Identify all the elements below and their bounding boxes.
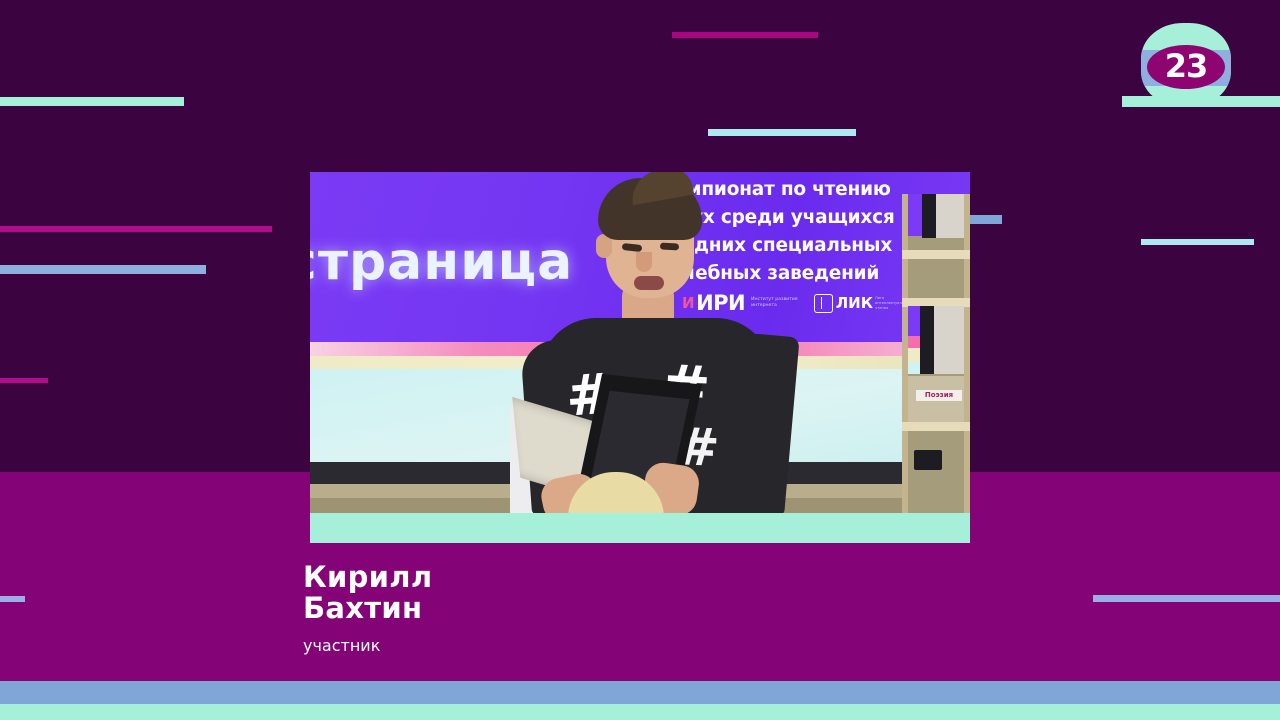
person-eye-right (660, 243, 679, 251)
shelf-book-light-1 (936, 194, 964, 238)
shelf-book-dark-2 (920, 306, 934, 374)
lower-third: Кирилл Бахтин участник (303, 562, 432, 656)
shelf-purple-panel-2 (908, 306, 920, 336)
channel-23-logo: 23 (1141, 23, 1231, 107)
shelf-cream-panel (908, 348, 920, 362)
decor-line-blue-small (968, 215, 1002, 224)
lik-subtitle: Лига интеллектуального чтения (875, 296, 897, 311)
shelf-book-dark-3 (914, 450, 942, 470)
shelf-cyan-panel (908, 362, 920, 374)
shelf-book-dark-1 (922, 194, 936, 238)
shelf-board-3 (902, 422, 970, 431)
decor-line-periwinkle-left-bottom (0, 596, 25, 602)
decor-line-mint-top (708, 129, 856, 136)
shelf-board-1 (902, 250, 970, 259)
photo-frame: страница Чемпионат по чтению вслух среди… (310, 172, 970, 543)
decor-line-mint-left-top (0, 97, 184, 106)
person-nose (636, 252, 652, 272)
shelf-section-label: Поэзия (916, 390, 962, 401)
shelf-purple-panel-1 (908, 194, 922, 236)
person-mouth (634, 276, 664, 290)
lik-wordmark: ЛИК (836, 294, 873, 312)
shelf-book-light-2 (934, 306, 964, 374)
logo-number: 23 (1165, 50, 1208, 82)
decor-line-magenta-left-low (0, 378, 48, 383)
decor-line-blue-right (1141, 239, 1254, 245)
broadcast-frame: 23 страница Чемпионат по чтению вслух ср… (0, 0, 1280, 720)
speaker-name-line-1: Кирилл (303, 562, 432, 593)
reader-person: # # # (510, 172, 810, 513)
bookshelf: Поэзия (902, 194, 970, 513)
speaker-role: участник (303, 636, 432, 656)
bottom-band-blue (0, 681, 1280, 704)
bottom-band-mint (0, 704, 1280, 720)
speaker-name-line-2: Бахтин (303, 593, 432, 624)
logo-oval: 23 (1147, 45, 1225, 89)
open-book-icon (814, 294, 833, 313)
decor-line-periwinkle-right (1093, 595, 1280, 602)
lik-logo: ЛИК Лига интеллектуального чтения (814, 294, 897, 313)
decor-line-magenta-top (672, 32, 818, 38)
shelf-pink-panel (908, 336, 920, 348)
photo-image: страница Чемпионат по чтению вслух среди… (310, 172, 970, 513)
decor-line-magenta-left-mid (0, 226, 272, 232)
photo-mint-strip (310, 513, 970, 543)
decor-line-periwinkle-left (0, 265, 206, 274)
